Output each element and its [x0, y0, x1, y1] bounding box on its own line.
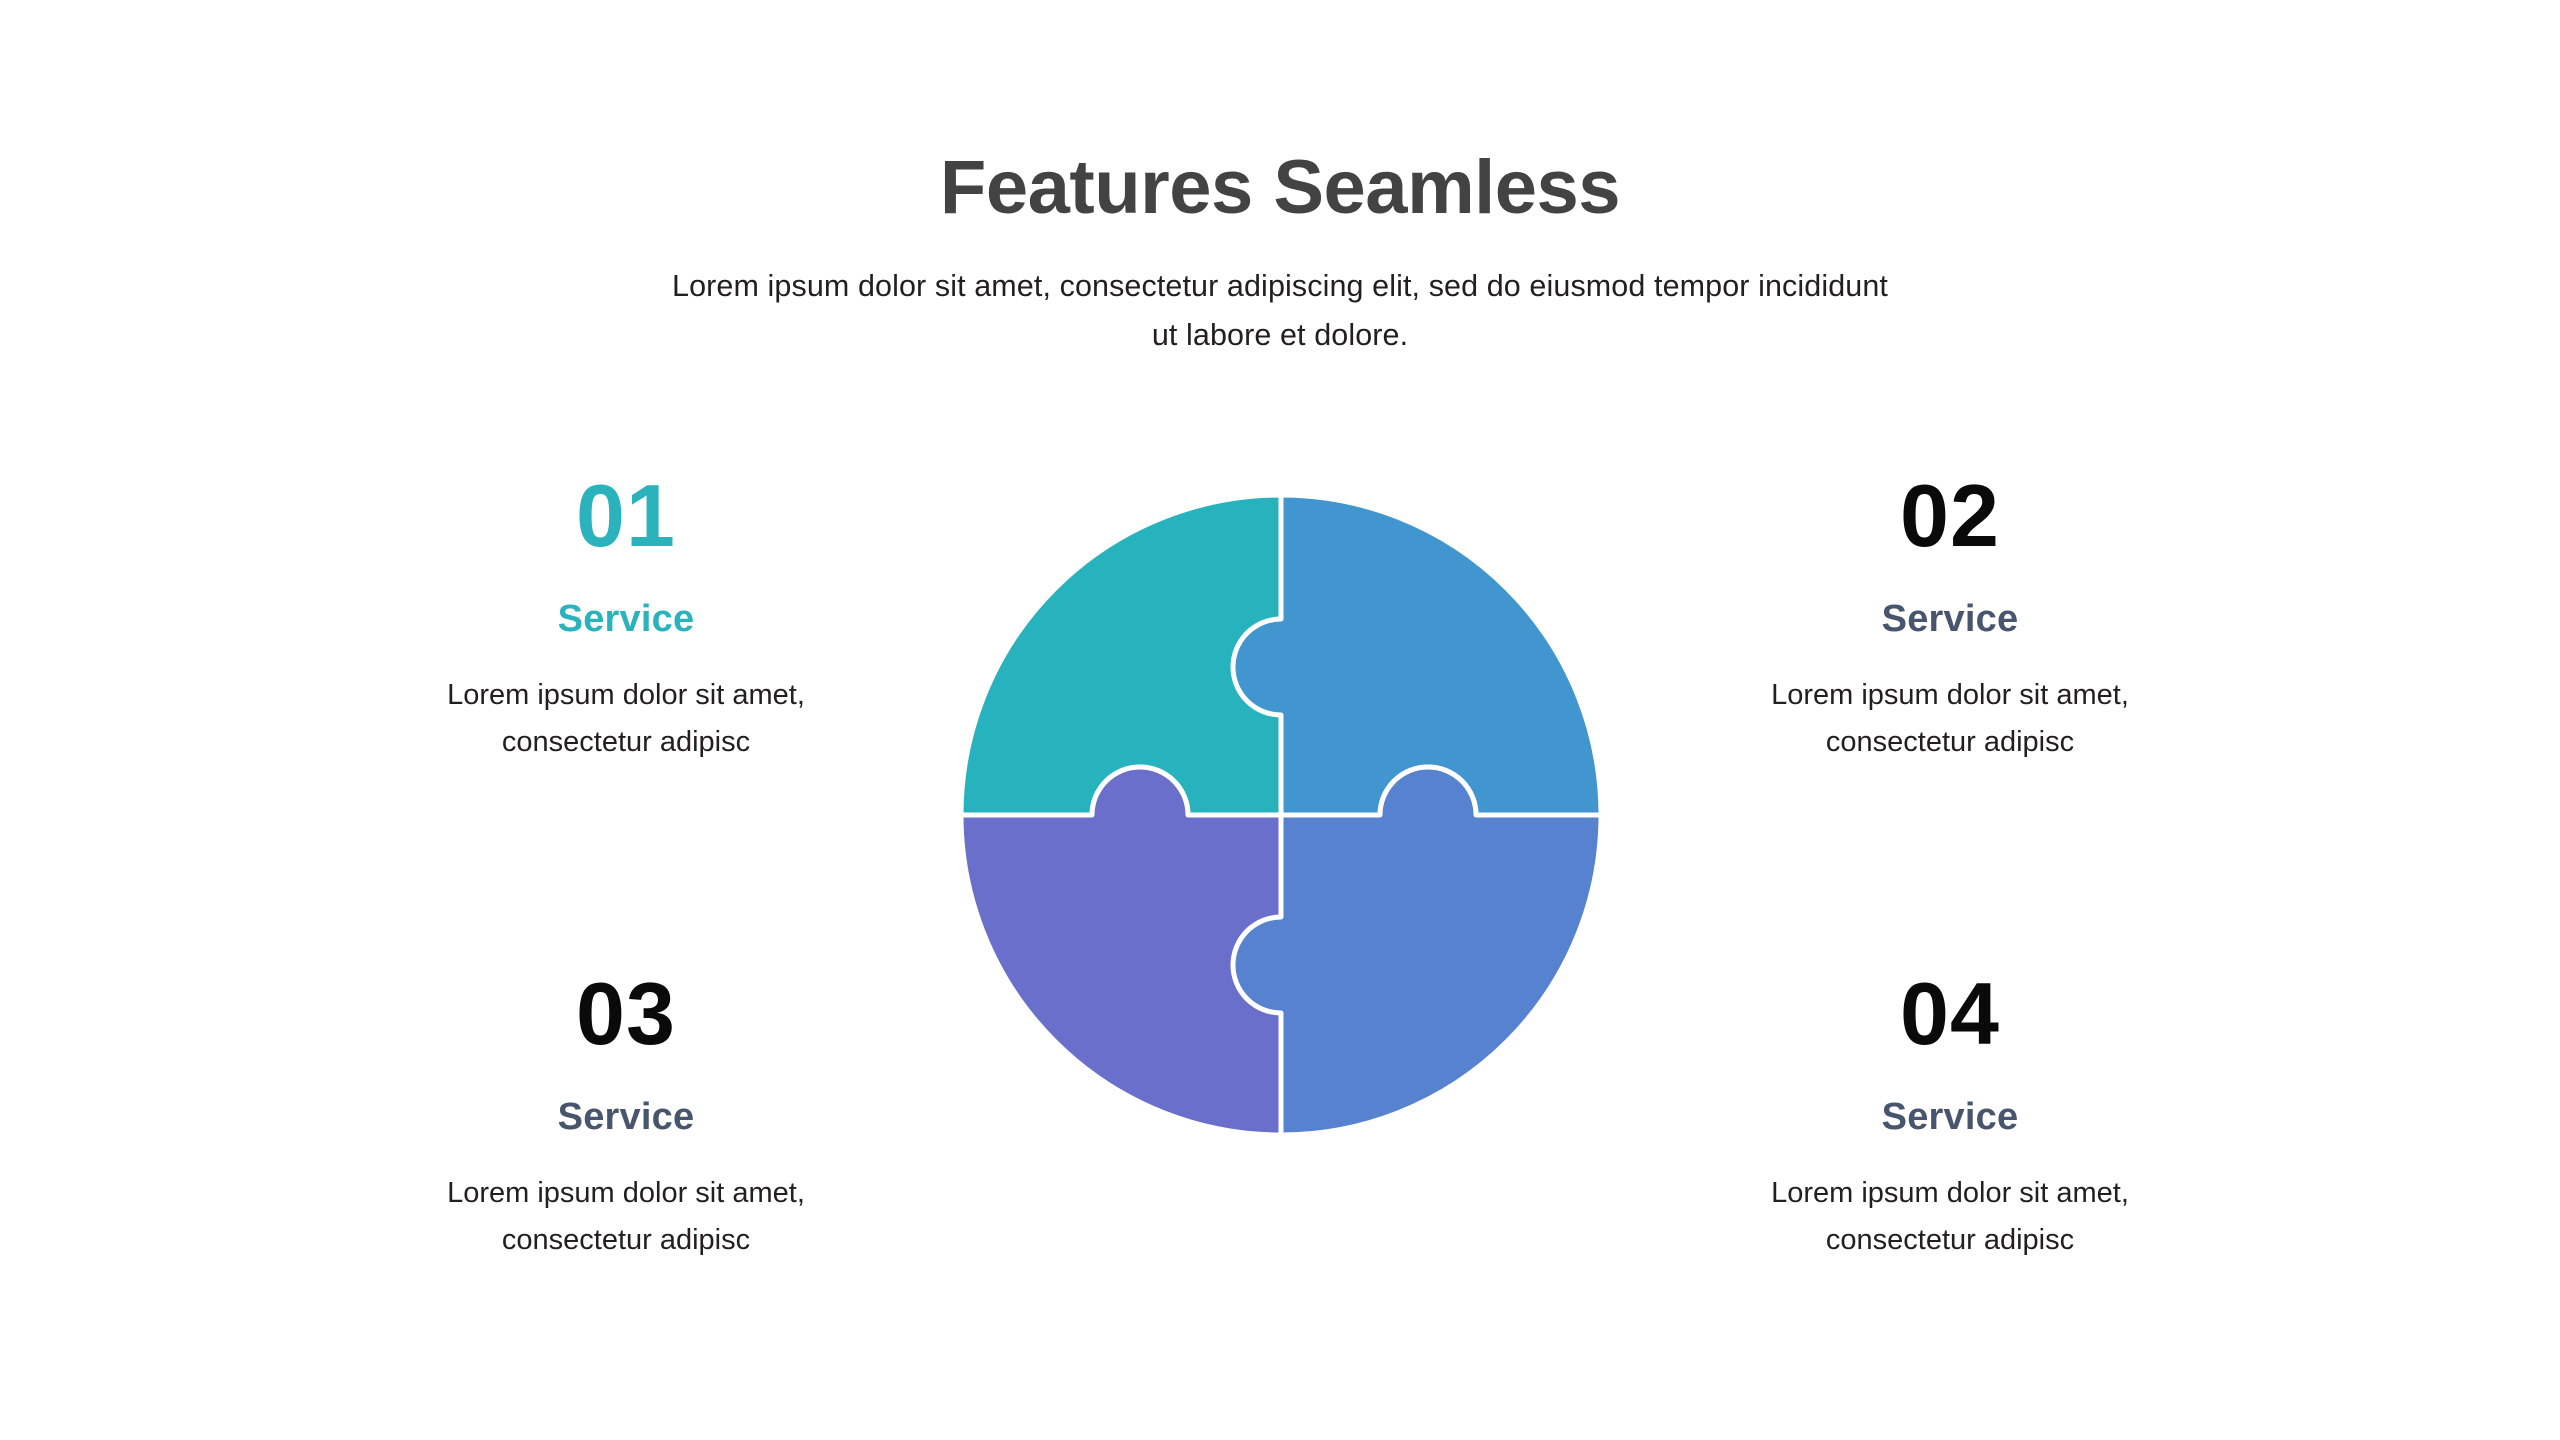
service-number-03: 03: [316, 970, 936, 1058]
slide-header: Features Seamless Lorem ipsum dolor sit …: [0, 148, 2560, 361]
service-number-01: 01: [316, 472, 936, 560]
service-title-01: Service: [316, 600, 936, 638]
service-desc-02: Lorem ipsum dolor sit amet, consectetur …: [1715, 672, 2185, 766]
service-item-02[interactable]: 02 Service Lorem ipsum dolor sit amet, c…: [1640, 472, 2260, 766]
service-title-03: Service: [316, 1098, 936, 1136]
puzzle-piece-bottom-right[interactable]: [1233, 767, 1601, 1135]
service-desc-04: Lorem ipsum dolor sit amet, consectetur …: [1715, 1170, 2185, 1264]
page-title: Features Seamless: [0, 148, 2560, 228]
puzzle-svg: [941, 475, 1621, 1155]
service-title-04: Service: [1640, 1098, 2260, 1136]
service-item-04[interactable]: 04 Service Lorem ipsum dolor sit amet, c…: [1640, 970, 2260, 1264]
service-desc-03: Lorem ipsum dolor sit amet, consectetur …: [391, 1170, 861, 1264]
puzzle-diagram: [941, 475, 1621, 1155]
slide-root: Features Seamless Lorem ipsum dolor sit …: [0, 0, 2560, 1440]
service-number-04: 04: [1640, 970, 2260, 1058]
service-desc-01: Lorem ipsum dolor sit amet, consectetur …: [391, 672, 861, 766]
service-number-02: 02: [1640, 472, 2260, 560]
page-subtitle: Lorem ipsum dolor sit amet, consectetur …: [665, 262, 1895, 361]
service-item-01[interactable]: 01 Service Lorem ipsum dolor sit amet, c…: [316, 472, 936, 766]
service-title-02: Service: [1640, 600, 2260, 638]
service-item-03[interactable]: 03 Service Lorem ipsum dolor sit amet, c…: [316, 970, 936, 1264]
